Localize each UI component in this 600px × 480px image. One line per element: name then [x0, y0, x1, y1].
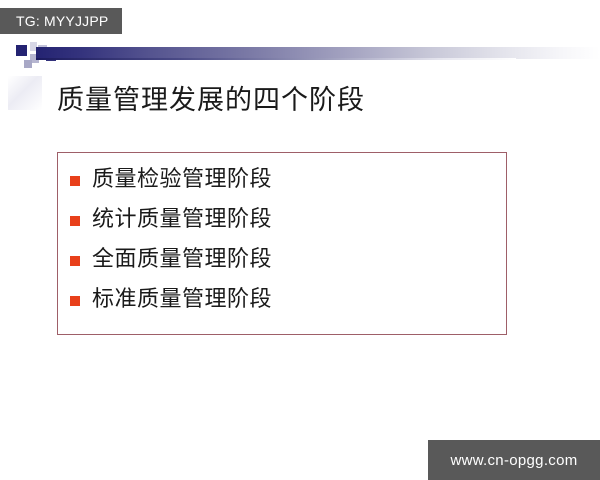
header-dark-navy-square [16, 45, 27, 56]
list-item: 全面质量管理阶段 [70, 240, 272, 280]
list-item: 统计质量管理阶段 [70, 200, 272, 240]
header-square-wash [8, 76, 42, 110]
header-mid-lilac-square-d [24, 60, 32, 68]
list-item-label: 全面质量管理阶段 [92, 247, 272, 273]
list-item: 标准质量管理阶段 [70, 280, 272, 320]
tg-watermark-label: TG: MYYJJPP [16, 13, 108, 29]
bullet-square-icon [70, 176, 80, 186]
site-watermark-badge: www.cn-opgg.com [428, 440, 600, 480]
header-decoration [0, 36, 600, 76]
list-item-label: 统计质量管理阶段 [92, 207, 272, 233]
tg-watermark-badge: TG: MYYJJPP [0, 8, 122, 34]
list-item-label: 标准质量管理阶段 [92, 287, 272, 313]
presentation-slide: TG: MYYJJPP 质量管理发展的四个阶段 质量检验管理阶段 统计质量管理阶… [0, 0, 600, 480]
bullet-list: 质量检验管理阶段 统计质量管理阶段 全面质量管理阶段 标准质量管理阶段 [70, 160, 272, 320]
bullet-square-icon [70, 216, 80, 226]
list-item-label: 质量检验管理阶段 [92, 167, 272, 193]
site-watermark-label: www.cn-opgg.com [450, 452, 577, 469]
header-gradient-underline [36, 58, 516, 60]
page-title: 质量管理发展的四个阶段 [57, 84, 365, 118]
list-item: 质量检验管理阶段 [70, 160, 272, 200]
bullet-square-icon [70, 296, 80, 306]
bullet-square-icon [70, 256, 80, 266]
